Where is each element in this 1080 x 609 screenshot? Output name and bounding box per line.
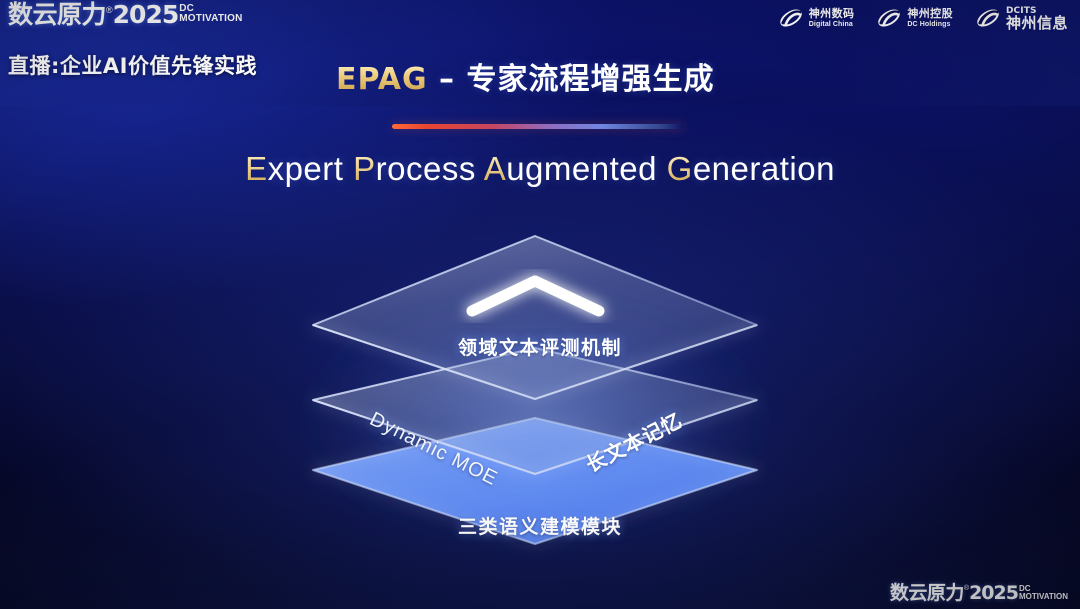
brand-dc: DC: [179, 4, 242, 13]
registered-mark: ®: [106, 2, 113, 16]
subtitle-part-7: eneration: [693, 150, 835, 187]
partner-name-en: Digital China: [809, 21, 855, 28]
subtitle-part-1: xpert: [268, 150, 354, 187]
partner-text: DCITS 神州信息: [1006, 5, 1068, 31]
partner-text: 神州控股 DC Holdings: [907, 8, 953, 28]
brand-year: 2025: [113, 2, 179, 28]
brand-motivation: MOTIVATION: [179, 13, 242, 24]
footer-brand-name-cn: 数云原力: [890, 583, 964, 603]
stack-layer-top: [313, 236, 757, 399]
partner-name-cn: 神州信息: [1006, 16, 1068, 31]
partner-logo-digital-china: 神州数码 Digital China: [778, 5, 855, 31]
swoosh-icon: [975, 5, 1001, 31]
brand-logo: 数云原力 ® 2025 DC MOTIVATION: [8, 2, 243, 28]
brand-dc-motivation: DC MOTIVATION: [178, 2, 242, 24]
footer-dc: DC: [1019, 585, 1068, 592]
title-separator: –: [428, 62, 467, 97]
footer-motivation: MOTIVATION: [1019, 592, 1068, 601]
subtitle-part-2: P: [353, 150, 376, 187]
partner-name-cn: 神州控股: [907, 8, 953, 19]
title-acronym: EPAG: [336, 62, 428, 97]
subtitle-part-6: G: [667, 150, 693, 187]
layer-edge-label-long-text-memory: 长文本记忆: [580, 404, 687, 478]
subtitle-part-3: rocess: [376, 150, 484, 187]
partner-logo-dcits: DCITS 神州信息: [975, 5, 1068, 31]
partner-name-en: DC Holdings: [907, 21, 953, 28]
footer-brand-year: 2025: [969, 583, 1018, 603]
slide-stage: 数云原力 ® 2025 DC MOTIVATION 直播:企业AI价值先锋实践 …: [0, 0, 1080, 609]
layer-label-bottom: 三类语义建模模块: [0, 512, 1080, 539]
layer-edge-label-dynamic-moe: Dynamic MOE: [366, 408, 501, 491]
title-chinese: 专家流程增强生成: [466, 62, 714, 97]
subtitle-part-5: ugmented: [506, 150, 666, 187]
swoosh-icon: [778, 5, 804, 31]
partner-logo-group: 神州数码 Digital China 神州控股 DC Holdings: [778, 5, 1068, 31]
subtitle-part-0: E: [245, 150, 268, 187]
live-broadcast-label: 直播:企业AI价值先锋实践: [8, 50, 257, 80]
partner-name-cn: 神州数码: [809, 8, 855, 19]
footer-dc-motivation: DC MOTIVATION: [1018, 583, 1068, 601]
gradient-divider: [392, 124, 684, 129]
stack-layer-bottom: [313, 418, 757, 544]
subtitle-part-4: A: [484, 150, 507, 187]
footer-brand-watermark: 数云原力 ® 2025 DC MOTIVATION: [890, 583, 1068, 603]
partner-text: 神州数码 Digital China: [809, 8, 855, 28]
layer-label-top: 领域文本评测机制: [0, 333, 1080, 360]
partner-logo-dc-holdings: 神州控股 DC Holdings: [876, 5, 953, 31]
swoosh-icon: [876, 5, 902, 31]
page-title: EPAG – 专家流程增强生成: [336, 54, 714, 98]
chevron-up-icon: [472, 281, 599, 311]
brand-name-cn: 数云原力: [8, 2, 106, 28]
stack-layer-middle: [313, 348, 757, 474]
subtitle: Expert Process Augmented Generation: [0, 150, 1080, 188]
